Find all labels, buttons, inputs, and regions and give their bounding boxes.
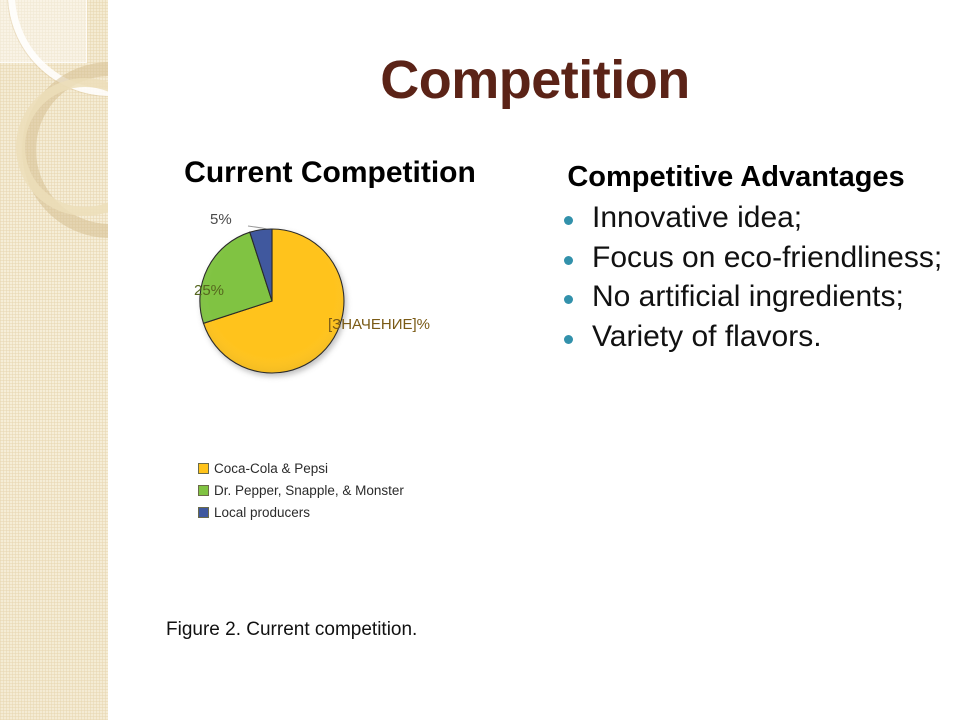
legend-item-dr-pepper-snapple-monster[interactable]: Dr. Pepper, Snapple, & Monster [198,480,510,502]
bullet-dot-icon [564,295,573,304]
list-item: Focus on eco-friendliness; [556,241,946,276]
chart-block: Current Competition [150,155,510,524]
advantages-title: Competitive Advantages [556,160,916,195]
chart-legend: Coca-Cola & Pepsi Dr. Pepper, Snapple, &… [150,458,510,524]
advantages-block: Competitive Advantages Innovative idea; … [556,160,946,360]
legend-item-coca-cola-pepsi[interactable]: Coca-Cola & Pepsi [198,458,510,480]
decorative-sidebar [0,0,108,720]
list-item: No artificial ingredients; [556,280,946,315]
legend-label: Local producers [214,505,310,520]
page-title: Competition [130,52,940,109]
list-item-label: Innovative idea; [592,201,802,234]
legend-label: Dr. Pepper, Snapple, & Monster [214,483,404,498]
chart-title: Current Competition [170,155,490,192]
list-item-label: No artificial ingredients; [592,280,904,313]
list-item: Innovative idea; [556,201,946,236]
legend-swatch-blue-icon [198,507,209,518]
advantages-list: Innovative idea; Focus on eco-friendline… [556,201,946,355]
legend-item-local-producers[interactable]: Local producers [198,502,510,524]
list-item-label: Variety of flavors. [592,320,822,353]
legend-swatch-green-icon [198,485,209,496]
pie-chart-svg [150,204,510,454]
pie-shading-overlay [200,229,344,373]
figure-caption: Figure 2. Current competition. [166,619,417,641]
list-item-label: Focus on eco-friendliness; [592,241,942,274]
pie-chart: 5% 25% [ЗНАЧЕНИЕ]% [150,204,510,454]
sidebar-inner-ring-decoration [16,78,108,216]
legend-label: Coca-Cola & Pepsi [214,461,328,476]
list-item: Variety of flavors. [556,320,946,355]
bullet-dot-icon [564,335,573,344]
bullet-dot-icon [564,256,573,265]
legend-swatch-yellow-icon [198,463,209,474]
bullet-dot-icon [564,216,573,225]
sidebar-edge-divider [105,0,108,720]
